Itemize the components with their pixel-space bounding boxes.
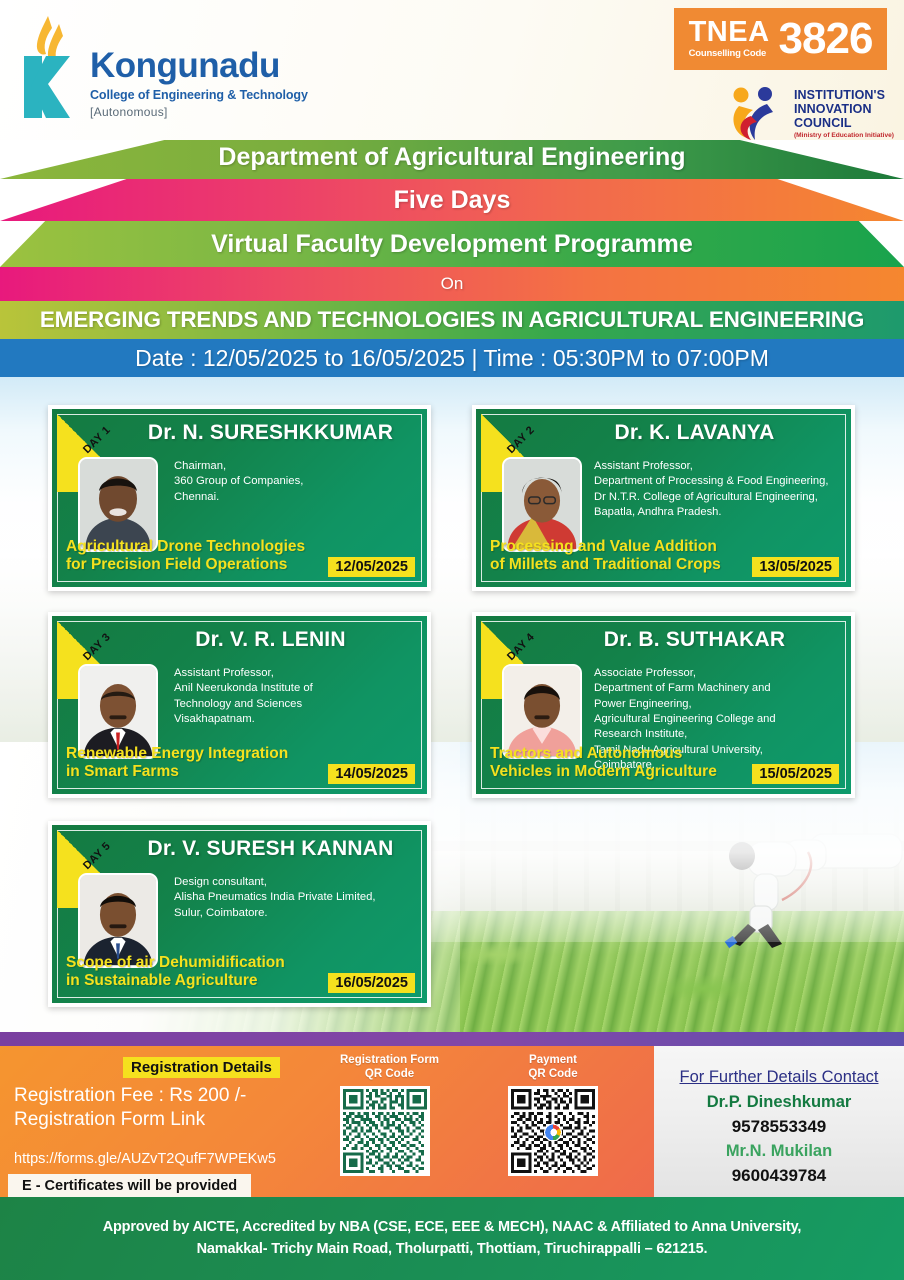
speaker-card-grid: DAY 1 Dr. N. SURESHKKUMAR Chairman,360 G… (0, 371, 904, 1032)
college-logo: Kongunadu College of Engineering & Techn… (18, 14, 308, 122)
band-duration: Five Days (0, 179, 904, 221)
programme-title-text: EMERGING TRENDS AND TECHNOLOGIES IN AGRI… (40, 307, 864, 333)
band-on: On (0, 267, 904, 301)
speaker-topic: Agricultural Drone Technologiesfor Preci… (66, 538, 305, 575)
footer-address-line: Namakkal- Trichy Main Road, Tholurpatti,… (197, 1239, 708, 1260)
tnea-badge-left: TNEA Counselling Code (689, 19, 770, 59)
speaker-topic: Renewable Energy Integrationin Smart Far… (66, 745, 288, 782)
registration-form-link[interactable]: https://forms.gle/AUZvT2QufF7WPEKw5 (14, 1151, 276, 1167)
tnea-counselling-label: Counselling Code (689, 48, 767, 59)
duration-text: Five Days (394, 186, 511, 215)
iic-line1: INSTITUTION'S (794, 88, 894, 102)
speaker-name: Dr. B. SUTHAKAR (476, 628, 851, 652)
speaker-date-badge: 15/05/2025 (752, 764, 839, 784)
college-name: Kongunadu (90, 48, 308, 83)
kongunadu-k-icon (18, 14, 84, 122)
contact-title: For Further Details Contact (654, 1068, 904, 1087)
tnea-label: TNEA (689, 19, 770, 47)
registration-form-qr-icon[interactable] (340, 1086, 430, 1176)
speaker-topic: Processing and Value Additionof Millets … (490, 538, 721, 575)
iic-logo: INSTITUTION'S INNOVATION COUNCIL (Minist… (727, 82, 894, 144)
purple-divider (0, 1032, 904, 1046)
payment-qr-block: PaymentQR Code (508, 1054, 598, 1176)
speaker-card-day4[interactable]: DAY 4 Dr. B. SUTHAKAR Associate Professo… (472, 612, 855, 798)
speaker-card-day2[interactable]: DAY 2 Dr. K. LAVANYA Assistant Professor… (472, 405, 855, 591)
speaker-name: Dr. V. SURESH KANNAN (52, 837, 427, 861)
on-text: On (441, 274, 464, 294)
contact-phone-2[interactable]: 9600439784 (654, 1166, 904, 1186)
registration-details-panel: Registration Details Registration Fee : … (0, 1046, 654, 1197)
registration-qr-block: Registration FormQR Code (340, 1054, 439, 1176)
contact-phone-1[interactable]: 9578553349 (654, 1117, 904, 1137)
iic-line2: INNOVATION (794, 102, 894, 116)
speaker-date-badge: 12/05/2025 (328, 557, 415, 577)
speaker-card-day1[interactable]: DAY 1 Dr. N. SURESHKKUMAR Chairman,360 G… (48, 405, 431, 591)
footer-accreditation-line: Approved by AICTE, Accredited by NBA (CS… (103, 1217, 802, 1238)
contact-name-1: Dr.P. Dineshkumar (654, 1093, 904, 1112)
college-subtitle: College of Engineering & Technology (90, 88, 308, 102)
contact-name-2: Mr.N. Mukilan (654, 1142, 904, 1161)
iic-emblem-icon (727, 82, 789, 144)
poster-footer: Approved by AICTE, Accredited by NBA (CS… (0, 1197, 904, 1280)
speaker-affiliation: Chairman,360 Group of Companies,Chennai. (174, 459, 417, 505)
speaker-name: Dr. V. R. LENIN (52, 628, 427, 652)
title-banner: Department of Agricultural Engineering F… (0, 135, 904, 371)
department-text: Department of Agricultural Engineering (218, 143, 685, 172)
tnea-badge: TNEA Counselling Code 3826 (674, 8, 887, 70)
band-programme: Virtual Faculty Development Programme (0, 221, 904, 267)
speaker-card-day5[interactable]: DAY 5 Dr. V. SURESH KANNAN Design consul… (48, 821, 431, 1007)
poster: Kongunadu College of Engineering & Techn… (0, 0, 904, 1280)
iic-logo-text: INSTITUTION'S INNOVATION COUNCIL (Minist… (794, 88, 894, 139)
speaker-affiliation: Assistant Professor,Anil Neerukonda Inst… (174, 666, 417, 728)
speaker-name: Dr. N. SURESHKKUMAR (52, 421, 427, 445)
tnea-code: 3826 (779, 17, 873, 61)
speaker-name: Dr. K. LAVANYA (476, 421, 851, 445)
datetime-text: Date : 12/05/2025 to 16/05/2025 | Time :… (135, 345, 769, 372)
speaker-topic: Scope of air Dehumidificationin Sustaina… (66, 954, 285, 991)
poster-header: Kongunadu College of Engineering & Techn… (0, 0, 904, 140)
speaker-date-badge: 16/05/2025 (328, 973, 415, 993)
programme-text: Virtual Faculty Development Programme (211, 230, 693, 259)
e-certificate-note: E - Certificates will be provided (8, 1174, 251, 1198)
registration-details-title: Registration Details (123, 1057, 280, 1078)
speaker-card-day3[interactable]: DAY 3 Dr. V. R. LENIN Assistant Professo… (48, 612, 431, 798)
speaker-affiliation: Assistant Professor,Department of Proces… (594, 459, 841, 520)
speaker-date-badge: 13/05/2025 (752, 557, 839, 577)
contact-panel: For Further Details Contact Dr.P. Dinesh… (654, 1046, 904, 1197)
payment-qr-label: PaymentQR Code (508, 1054, 598, 1082)
speaker-affiliation: Design consultant,Alisha Pneumatics Indi… (174, 875, 417, 921)
payment-qr-icon[interactable] (508, 1086, 598, 1176)
registration-qr-label: Registration FormQR Code (340, 1054, 439, 1082)
registration-section: Registration Details Registration Fee : … (0, 1046, 904, 1197)
iic-line3: COUNCIL (794, 116, 894, 130)
band-title: EMERGING TRENDS AND TECHNOLOGIES IN AGRI… (0, 301, 904, 339)
college-autonomous-tag: [Autonomous] (90, 105, 308, 119)
college-logo-text: Kongunadu College of Engineering & Techn… (90, 14, 308, 119)
iic-ministry-note: (Ministry of Education Initiative) (794, 132, 894, 139)
registration-fee-text: Registration Fee : Rs 200 /-Registration… (14, 1084, 246, 1133)
speaker-date-badge: 14/05/2025 (328, 764, 415, 784)
speaker-topic: Tractors and AutonomousVehicles in Moder… (490, 745, 717, 782)
